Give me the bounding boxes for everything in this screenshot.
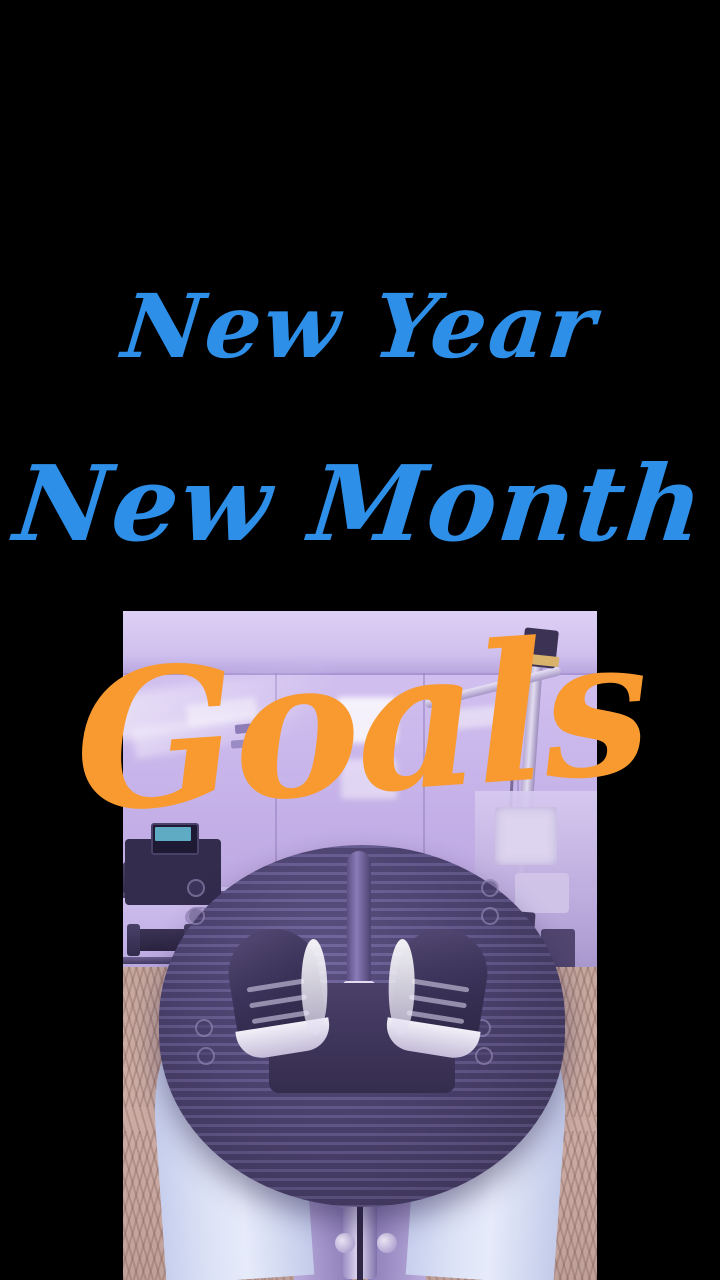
footplate-bolt [187,879,205,897]
footplate-bolt [195,1019,213,1037]
footplate-bolt [475,1047,493,1065]
footplate-bolt [187,907,205,925]
linkage-pin [377,1233,397,1253]
linkage-pin [335,1233,355,1253]
goals-overlay-text: Goals [0,605,720,845]
footplate-center-post [347,851,371,991]
headline-line-new-month: New Month [0,452,720,556]
story-canvas: New Year New Month [0,0,720,1280]
footplate-bolt [481,879,499,897]
headline-line-new-year: New Year [0,282,720,370]
footplate-bolt [197,1047,215,1065]
footplate-bolt [481,907,499,925]
machine-pad [515,873,569,913]
